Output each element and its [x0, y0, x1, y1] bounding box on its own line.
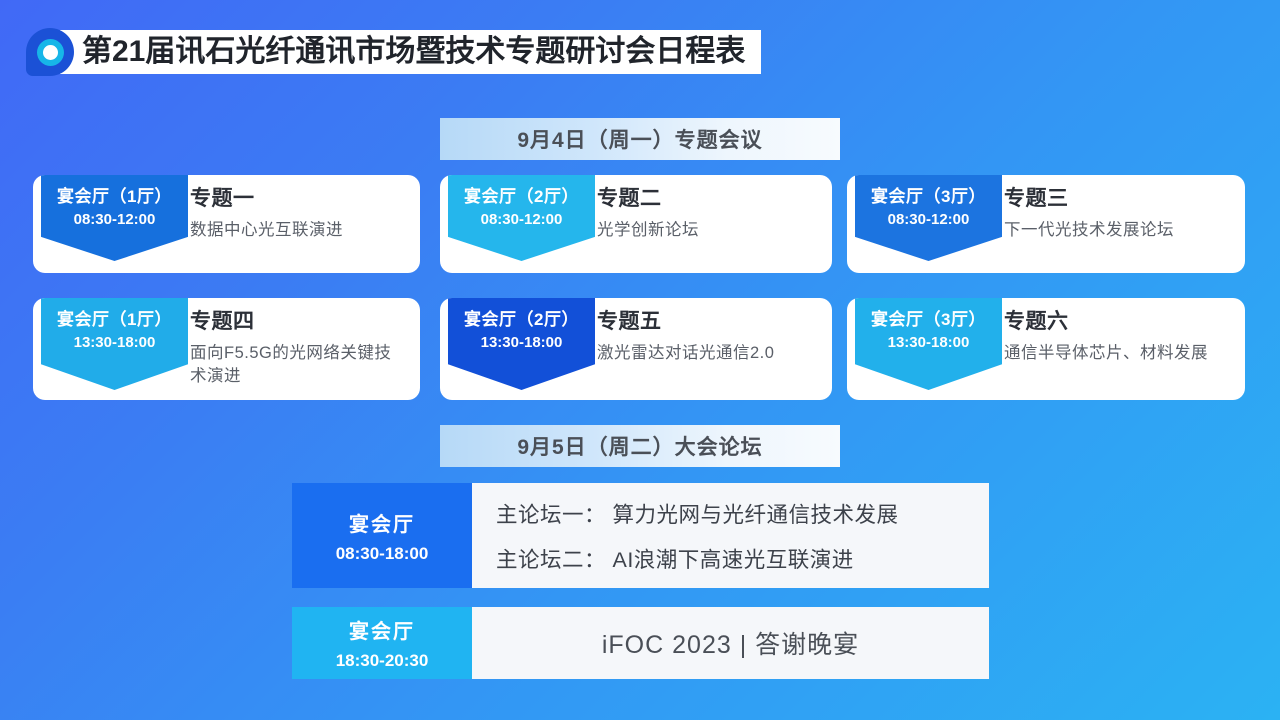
venue-badge-wrap: 宴会厅（1厅） 08:30-12:00: [33, 175, 188, 273]
venue-time-label: 08:30-18:00: [336, 544, 429, 564]
main-forum-line: 主论坛二： AI浪潮下高速光互联演进: [496, 543, 989, 574]
ifoc-circle-logo-icon: [26, 28, 74, 76]
session-card-body: 专题六 通信半导体芯片、材料发展: [1002, 298, 1245, 400]
venue-badge: 宴会厅（2厅） 13:30-18:00: [448, 298, 595, 390]
dinner-title: iFOC 2023 | 答谢晚宴: [602, 625, 859, 661]
day-banner-label: 9月5日（周二）大会论坛: [517, 431, 762, 461]
dinner-row[interactable]: 宴会厅 18:30-20:30 iFOC 2023 | 答谢晚宴: [292, 607, 989, 679]
venue-badge-wrap: 宴会厅（3厅） 08:30-12:00: [847, 175, 1002, 273]
session-card[interactable]: 宴会厅（3厅） 08:30-12:00 专题三 下一代光技术发展论坛: [847, 175, 1245, 273]
venue-badge-wrap: 宴会厅（1厅） 13:30-18:00: [33, 298, 188, 400]
venue-badge: 宴会厅（1厅） 08:30-12:00: [41, 175, 188, 261]
page-title: 第21届讯石光纤通讯市场暨技术专题研讨会日程表: [82, 37, 745, 67]
session-description: 面向F5.5G的光网络关键技术演进: [190, 342, 406, 388]
main-forum-line: 主论坛一： 算力光网与光纤通信技术发展: [496, 498, 989, 529]
session-card-body: 专题四 面向F5.5G的光网络关键技术演进: [188, 298, 420, 400]
venue-hall-label: 宴会厅（2厅）: [448, 186, 595, 207]
venue-time-label: 08:30-12:00: [448, 211, 595, 228]
venue-hall-label: 宴会厅（3厅）: [855, 309, 1002, 330]
session-card-body: 专题二 光学创新论坛: [595, 175, 832, 273]
venue-badge-wrap: 宴会厅（3厅） 13:30-18:00: [847, 298, 1002, 400]
session-card-body: 专题一 数据中心光互联演进: [188, 175, 420, 273]
main-forum-body: 主论坛一： 算力光网与光纤通信技术发展 主论坛二： AI浪潮下高速光互联演进: [472, 483, 989, 588]
session-topic: 专题三: [1004, 187, 1231, 210]
venue-badge: 宴会厅（2厅） 08:30-12:00: [448, 175, 595, 261]
logo-ring: [37, 39, 64, 66]
venue-hall-label: 宴会厅（1厅）: [41, 186, 188, 207]
session-card[interactable]: 宴会厅（3厅） 13:30-18:00 专题六 通信半导体芯片、材料发展: [847, 298, 1245, 400]
venue-hall-label: 宴会厅: [349, 615, 415, 644]
session-description: 通信半导体芯片、材料发展: [1004, 342, 1231, 365]
session-topic: 专题四: [190, 310, 406, 333]
day-banner-day-1: 9月4日（周一）专题会议: [440, 118, 840, 160]
venue-badge-wrap: 宴会厅（2厅） 13:30-18:00: [440, 298, 595, 400]
venue-time-label: 18:30-20:30: [336, 651, 429, 671]
main-forum-row[interactable]: 宴会厅 08:30-18:00 主论坛一： 算力光网与光纤通信技术发展 主论坛二…: [292, 483, 989, 588]
venue-badge-wrap: 宴会厅（2厅） 08:30-12:00: [440, 175, 595, 273]
session-description: 下一代光技术发展论坛: [1004, 219, 1231, 242]
session-description: 光学创新论坛: [597, 219, 818, 242]
venue-badge: 宴会厅（3厅） 13:30-18:00: [855, 298, 1002, 390]
session-description: 数据中心光互联演进: [190, 219, 406, 242]
session-card[interactable]: 宴会厅（2厅） 08:30-12:00 专题二 光学创新论坛: [440, 175, 832, 273]
dinner-body: iFOC 2023 | 答谢晚宴: [472, 607, 989, 679]
session-description: 激光雷达对话光通信2.0: [597, 342, 818, 365]
session-card[interactable]: 宴会厅（1厅） 08:30-12:00 专题一 数据中心光互联演进: [33, 175, 420, 273]
page-header: 第21届讯石光纤通讯市场暨技术专题研讨会日程表: [26, 28, 761, 76]
session-card-body: 专题五 激光雷达对话光通信2.0: [595, 298, 832, 400]
venue-time-label: 13:30-18:00: [448, 334, 595, 351]
session-card[interactable]: 宴会厅（1厅） 13:30-18:00 专题四 面向F5.5G的光网络关键技术演…: [33, 298, 420, 400]
session-topic: 专题二: [597, 187, 818, 210]
venue-badge: 宴会厅（3厅） 08:30-12:00: [855, 175, 1002, 261]
venue-hall-label: 宴会厅: [349, 508, 415, 537]
session-card[interactable]: 宴会厅（2厅） 13:30-18:00 专题五 激光雷达对话光通信2.0: [440, 298, 832, 400]
venue-hall-label: 宴会厅（3厅）: [855, 186, 1002, 207]
session-card-body: 专题三 下一代光技术发展论坛: [1002, 175, 1245, 273]
main-forum-venue-badge: 宴会厅 08:30-18:00: [292, 483, 472, 588]
venue-time-label: 13:30-18:00: [855, 334, 1002, 351]
venue-time-label: 08:30-12:00: [41, 211, 188, 228]
logo-dot: [43, 45, 58, 60]
day-banner-label: 9月4日（周一）专题会议: [517, 124, 762, 154]
venue-badge: 宴会厅（1厅） 13:30-18:00: [41, 298, 188, 390]
venue-time-label: 13:30-18:00: [41, 334, 188, 351]
session-topic: 专题一: [190, 187, 406, 210]
venue-hall-label: 宴会厅（2厅）: [448, 309, 595, 330]
session-topic: 专题六: [1004, 310, 1231, 333]
day-banner-day-2: 9月5日（周二）大会论坛: [440, 425, 840, 467]
session-topic: 专题五: [597, 310, 818, 333]
venue-hall-label: 宴会厅（1厅）: [41, 309, 188, 330]
venue-time-label: 08:30-12:00: [855, 211, 1002, 228]
dinner-venue-badge: 宴会厅 18:30-20:30: [292, 607, 472, 679]
title-plate: 第21届讯石光纤通讯市场暨技术专题研讨会日程表: [60, 30, 761, 74]
